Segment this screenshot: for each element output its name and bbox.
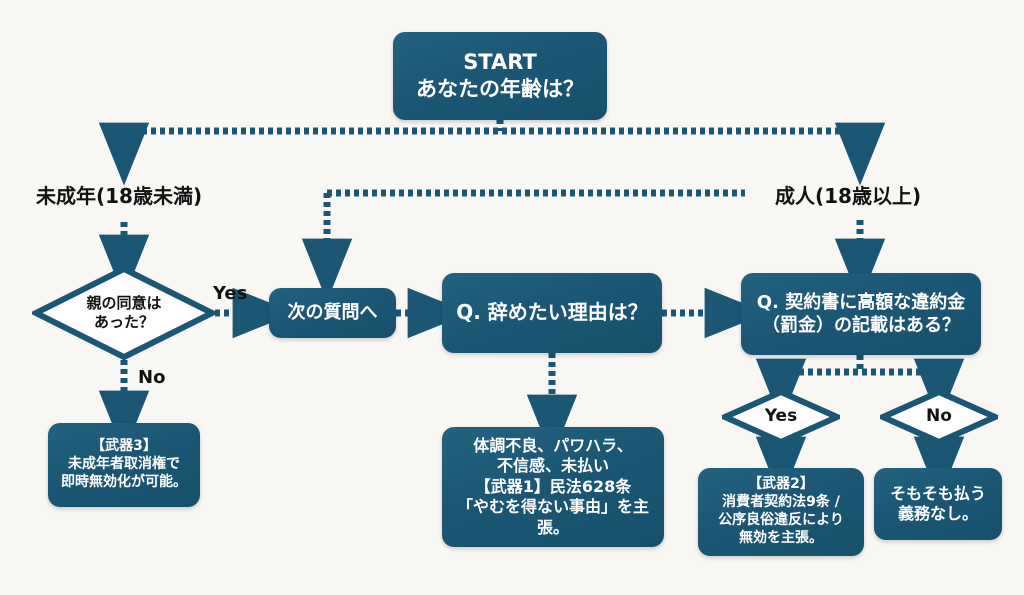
decision-penalty-no[interactable]: No — [880, 389, 998, 445]
decision-penalty-no-label: No — [880, 389, 998, 445]
label-minor-branch: 未成年(18歳未満) — [36, 180, 202, 209]
node-weapon3[interactable]: 【武器3】 未成年者取消権で 即時無効化が可能。 — [48, 423, 200, 507]
edge-label-no: No — [138, 367, 165, 388]
node-question-reason[interactable]: Q. 辞めたい理由は？ — [442, 273, 662, 353]
node-next-question[interactable]: 次の質問へ — [269, 288, 396, 338]
node-weapon1[interactable]: 体調不良、パワハラ、 不信感、未払い 【武器1】民法628条 「やむを得ない事由… — [442, 427, 664, 547]
node-weapon2[interactable]: 【武器2】 消費者契約法9条 / 公序良俗違反により 無効を主張。 — [698, 468, 864, 556]
decision-parent-consent[interactable]: 親の同意は あった？ — [32, 265, 216, 361]
decision-parent-consent-label: 親の同意は あった？ — [32, 265, 216, 361]
node-no-duty[interactable]: そもそも払う 義務なし。 — [874, 468, 1002, 540]
flowchart-canvas: START あなたの年齢は？ 未成年(18歳未満) 成人(18歳以上) 親の同意… — [0, 0, 1024, 595]
node-start[interactable]: START あなたの年齢は？ — [393, 32, 607, 120]
node-question-penalty[interactable]: Q. 契約書に高額な違約金 （罰金）の記載はある？ — [741, 273, 981, 355]
label-adult-branch: 成人(18歳以上) — [775, 180, 921, 209]
edge-label-yes: Yes — [213, 283, 247, 304]
decision-penalty-yes[interactable]: Yes — [722, 389, 840, 445]
decision-penalty-yes-label: Yes — [722, 389, 840, 445]
